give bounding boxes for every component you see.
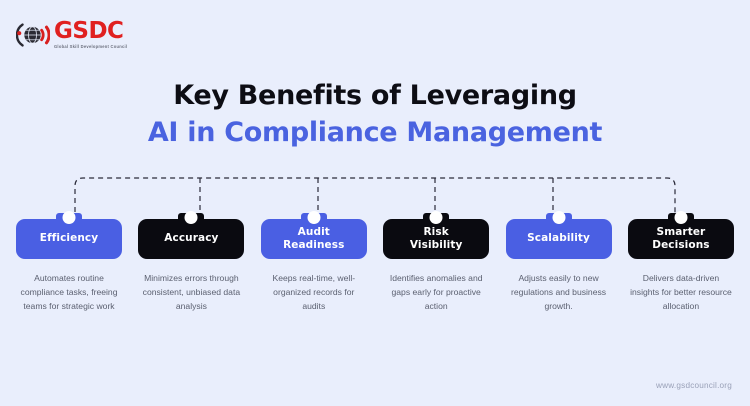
benefit-label: Smarter Decisions [652,226,709,252]
brand-name: GSDC [54,20,127,43]
connector-node-dot [674,211,687,224]
benefit-label: Efficiency [40,232,98,245]
connector-node-dot [552,211,565,224]
benefit-label: Risk Visibility [410,226,463,252]
benefit-pill[interactable]: Smarter Decisions [628,219,734,259]
benefit-pill[interactable]: Scalability [506,219,612,259]
benefit-card[interactable]: Audit Readiness Keeps real-time, well-or… [261,219,367,314]
globe-icon [16,20,50,50]
benefit-pill-wrap: Accuracy [138,219,244,259]
benefit-pill[interactable]: Audit Readiness [261,219,367,259]
benefit-label: Scalability [527,232,590,245]
benefit-pill[interactable]: Accuracy [138,219,244,259]
benefit-card[interactable]: Accuracy Minimizes errors through consis… [138,219,244,314]
title-line-primary: Key Benefits of Leveraging [0,78,750,113]
benefit-pill[interactable]: Efficiency [16,219,122,259]
benefit-description: Delivers data-driven insights for better… [628,272,734,314]
benefit-pill-wrap: Smarter Decisions [628,219,734,259]
benefit-card[interactable]: Efficiency Automates routine compliance … [16,219,122,314]
brand-tagline: Global Skill Development Council [54,45,127,49]
title-line-accent: AI in Compliance Management [0,113,750,152]
benefit-label: Audit Readiness [283,226,344,252]
page-title: Key Benefits of Leveraging AI in Complia… [0,78,750,152]
benefit-card-list: Efficiency Automates routine compliance … [16,219,734,314]
benefit-pill-wrap: Audit Readiness [261,219,367,259]
benefit-pill-wrap: Scalability [506,219,612,259]
benefit-description: Minimizes errors through consistent, unb… [138,272,244,314]
brand-logo: GSDC Global Skill Development Council [16,20,127,50]
benefit-description: Keeps real-time, well-organized records … [261,272,367,314]
benefit-pill-wrap: Risk Visibility [383,219,489,259]
benefit-pill[interactable]: Risk Visibility [383,219,489,259]
benefit-description: Adjusts easily to new regulations and bu… [506,272,612,314]
benefit-pill-wrap: Efficiency [16,219,122,259]
connector-node-dot [185,211,198,224]
benefit-card[interactable]: Scalability Adjusts easily to new regula… [506,219,612,314]
benefit-card[interactable]: Risk Visibility Identifies anomalies and… [383,219,489,314]
benefit-description: Identifies anomalies and gaps early for … [383,272,489,314]
connector-node-dot [307,211,320,224]
connector-node-dot [430,211,443,224]
benefit-description: Automates routine compliance tasks, free… [16,272,122,314]
benefit-label: Accuracy [164,232,218,245]
footer-website-url[interactable]: www.gsdcouncil.org [656,381,732,390]
connector-node-dot [63,211,76,224]
benefit-card[interactable]: Smarter Decisions Delivers data-driven i… [628,219,734,314]
